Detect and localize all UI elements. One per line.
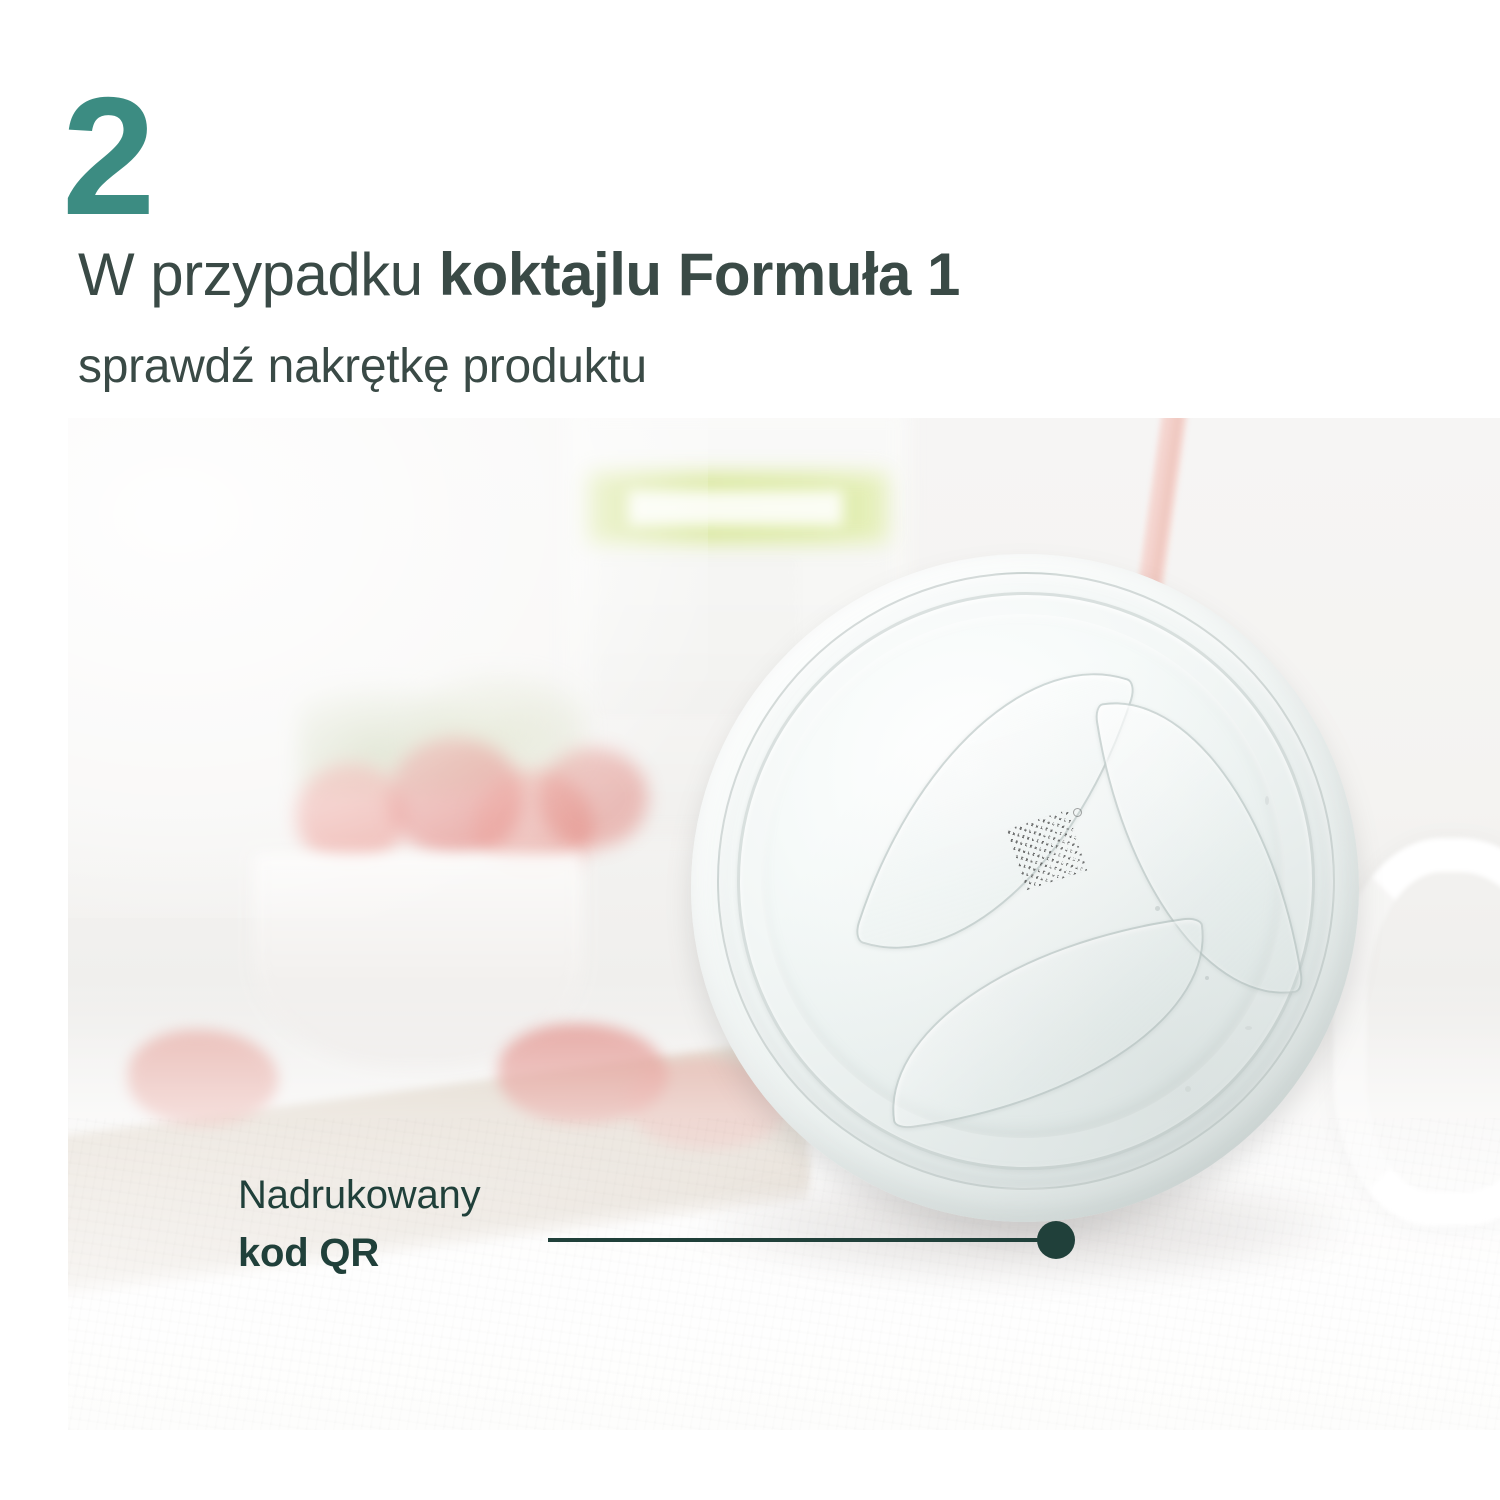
product-lid: [685, 546, 1375, 1246]
headline-prefix: W przypadku: [78, 241, 439, 308]
lid-speck: [1265, 796, 1269, 805]
header-section: 2 W przypadku koktajlu Formuła 1 sprawdź…: [0, 0, 1500, 418]
lid-speck: [1205, 976, 1209, 980]
photo-highlight-glow: [68, 418, 708, 918]
callout-qr-leader-line: [548, 1238, 1063, 1242]
lid-speck: [1185, 1086, 1191, 1092]
callout-qr-code-label: Nadrukowany kod QR: [238, 1166, 480, 1282]
page-subtitle: sprawdź nakrętkę produktu: [78, 341, 647, 394]
callout-qr-line1: Nadrukowany: [238, 1166, 480, 1224]
callout-qr-marker-dot: [1037, 1221, 1075, 1259]
headline-emphasis: koktajlu Formuła 1: [439, 241, 960, 308]
page-title: W przypadku koktajlu Formuła 1: [78, 243, 960, 308]
qr-code-marker-icon: [1073, 808, 1082, 817]
lid-speck: [1155, 906, 1160, 911]
callout-qr-line2: kod QR: [238, 1224, 480, 1282]
product-photo: Nadrukowany kod QR 3 listki nawiązujące …: [68, 418, 1500, 1430]
lid-speck: [1245, 1026, 1252, 1030]
step-number: 2: [62, 72, 152, 240]
